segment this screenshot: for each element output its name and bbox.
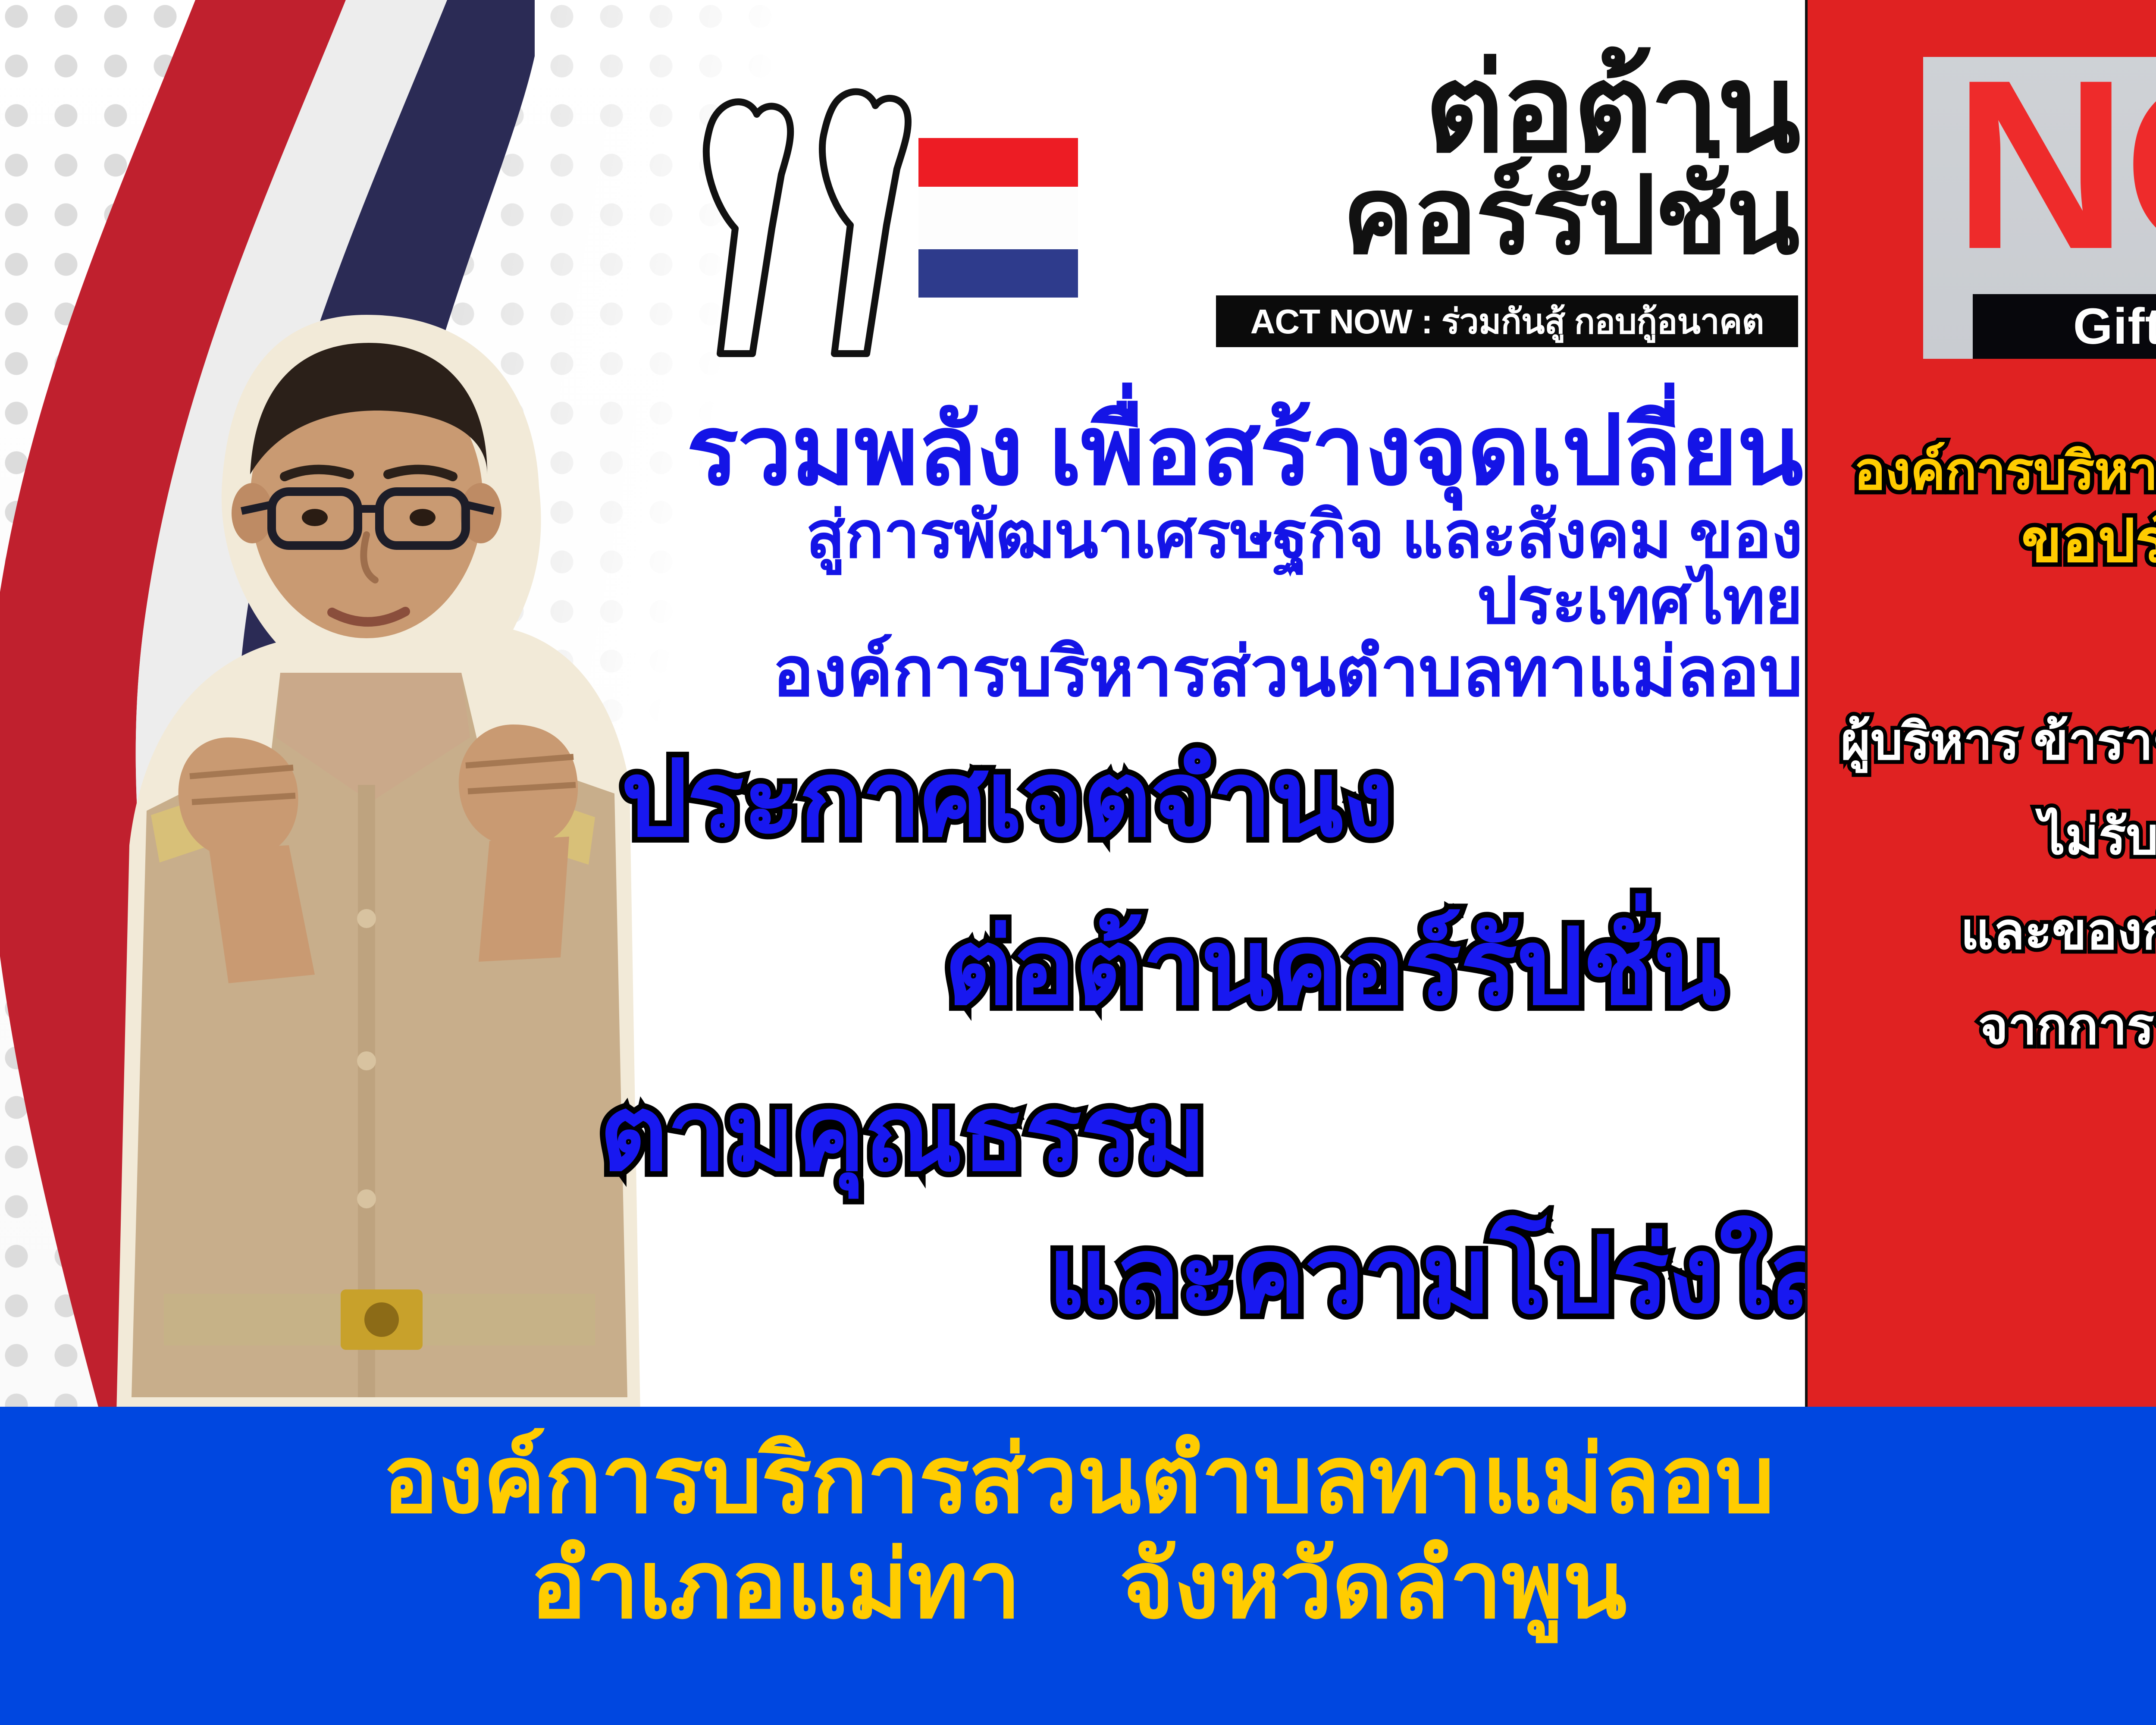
declaration-quote-line-4: จากการปฏิบัติหน้าที่ <box>1808 1000 2156 1052</box>
flag-bar-white <box>918 187 1078 249</box>
footer-province: จังหวัดลำพูน <box>1119 1533 1626 1637</box>
logo-wordmark: ต่อต้าน คอร์รัปชั่น ACT NOW : ร่วมกันสู้… <box>1087 56 1798 358</box>
subheadline-line-1: รวมพลัง เพื่อสร้างจุดเปลี่ยน <box>530 401 1802 500</box>
logo-tagline: ACT NOW : ร่วมกันสู้ กอบกู้อนาคต <box>1216 295 1798 347</box>
declaration-quote-line-1: ผู้บริหาร ข้าราชการ พนักงาน ทุกคน <box>1808 716 2156 820</box>
quote-close-mark: ” <box>1808 1087 2156 1188</box>
declaration-quote-line-2: ไม่รับของขวัญ <box>1808 811 2156 862</box>
crossed-fists-icon <box>642 56 944 358</box>
subheadline-block: รวมพลัง เพื่อสร้างจุดเปลี่ยน สู่การพัฒนา… <box>530 401 1802 707</box>
headline-line-3: ตามคุณธรรม <box>599 1080 1206 1186</box>
subheadline-line-3: องค์การบริหารส่วนตำบลทาแม่ลอบ <box>530 637 1802 707</box>
no-text: NO <box>1953 66 2156 263</box>
footer-line-2: อำเภอแม่ทาจังหวัดลำพูน <box>0 1533 2156 1638</box>
footer-bar: องค์การบริการส่วนตำบลทาแม่ลอบ อำเภอแม่ทา… <box>0 1407 2156 1725</box>
footer-district: อำเภอแม่ทา <box>530 1533 1020 1637</box>
headline-line-1: ประกาศเจตจำนง <box>621 746 1393 852</box>
flag-bar-red <box>918 138 1078 187</box>
gift-policy-label: Gift Policy <box>1973 294 2156 359</box>
logo-line-1: ต่อต้าน <box>1181 47 1798 170</box>
headline-line-2: ต่อต้านคอร์รัปชั่น <box>944 914 1725 1020</box>
declaration-panel: NO Gift Policy องค์การบริหารส่วนตำบลทาแม… <box>1805 0 2156 1407</box>
declaration-quote-line-3: และของกำนัลทุกชนิด <box>1808 906 2156 957</box>
flag-bar-navy <box>918 249 1078 298</box>
poster-root: ต่อต้าน คอร์รัปชั่น ACT NOW : ร่วมกันสู้… <box>0 0 2156 1725</box>
logo-line-2: คอร์รัปชั่น <box>1173 162 1798 270</box>
subheadline-line-2: สู่การพัฒนาเศรษฐกิจ และสังคม ของประเทศไท… <box>530 502 1802 634</box>
declaration-announce: ขอประกาศว่า <box>1808 511 2156 572</box>
footer-text-block: องค์การบริการส่วนตำบลทาแม่ลอบ อำเภอแม่ทา… <box>0 1427 2156 1638</box>
no-gift-policy-card: NO Gift Policy <box>1923 40 2156 359</box>
anti-corruption-logo: ต่อต้าน คอร์รัปชั่น ACT NOW : ร่วมกันสู้… <box>642 56 1798 358</box>
headline-line-4: และความโปร่งใส <box>1048 1223 1833 1328</box>
footer-line-1: องค์การบริการส่วนตำบลทาแม่ลอบ <box>0 1427 2156 1533</box>
thai-flag-bars-icon <box>918 138 1078 298</box>
